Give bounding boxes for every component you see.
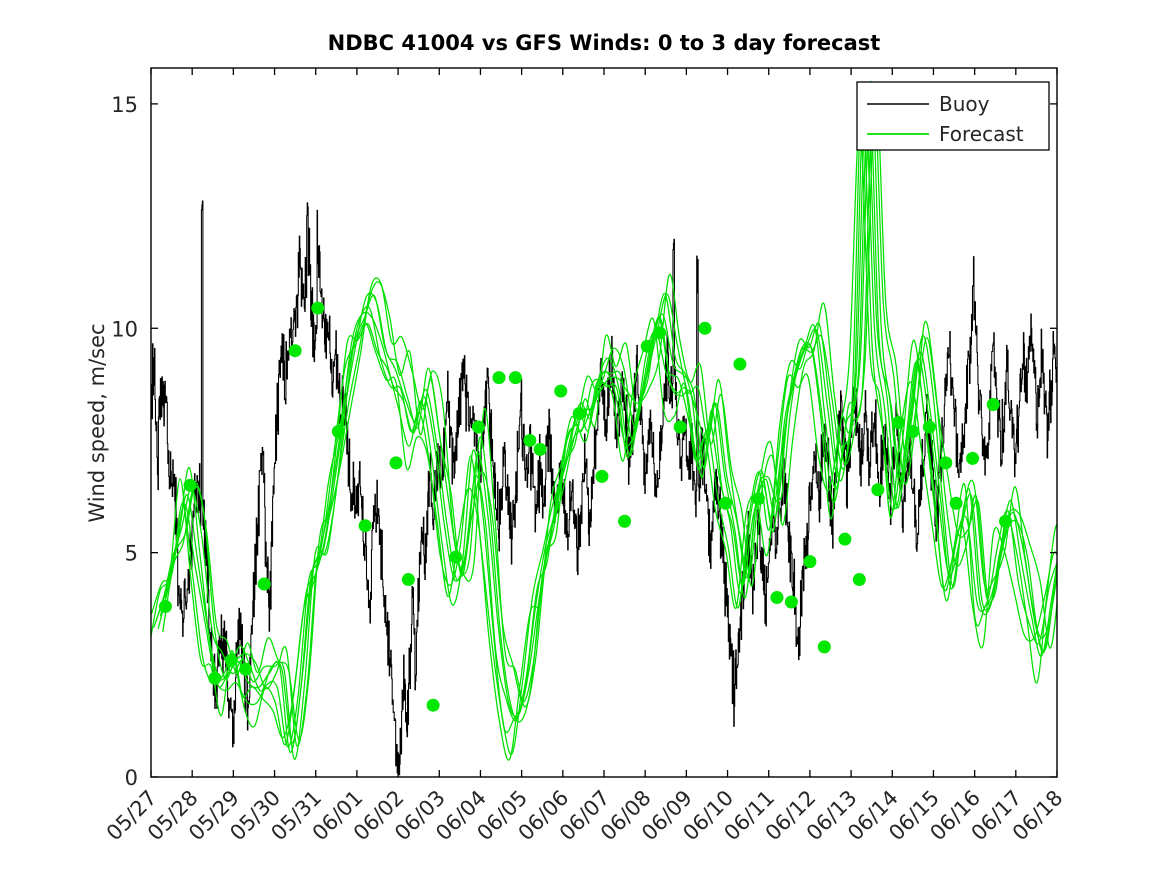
forecast-marker [427, 699, 440, 712]
forecast-marker [785, 595, 798, 608]
y-tick-label: 10 [111, 317, 138, 341]
forecast-marker [359, 519, 372, 532]
forecast-marker [752, 492, 765, 505]
forecast-marker [923, 420, 936, 433]
forecast-marker [159, 600, 172, 613]
forecast-marker [208, 672, 221, 685]
forecast-marker [184, 479, 197, 492]
wind-speed-chart: NDBC 41004 vs GFS Winds: 0 to 3 day fore… [0, 0, 1167, 875]
figure-container: NDBC 41004 vs GFS Winds: 0 to 3 day fore… [0, 0, 1167, 875]
y-tick-label: 5 [125, 542, 138, 566]
forecast-marker [871, 483, 884, 496]
forecast-marker [332, 425, 345, 438]
y-tick-label: 15 [111, 93, 138, 117]
forecast-marker [653, 326, 666, 339]
forecast-marker [966, 452, 979, 465]
forecast-marker [289, 344, 302, 357]
forecast-marker [534, 443, 547, 456]
forecast-marker [239, 663, 252, 676]
forecast-marker [698, 322, 711, 335]
forecast-marker [719, 497, 732, 510]
forecast-marker [838, 533, 851, 546]
forecast-marker [311, 302, 324, 315]
forecast-marker [402, 573, 415, 586]
y-axis-title: Wind speed, m/sec [85, 323, 109, 522]
forecast-marker [509, 371, 522, 384]
forecast-marker [258, 578, 271, 591]
y-tick-label: 0 [125, 766, 138, 790]
forecast-marker [595, 470, 608, 483]
forecast-marker [853, 573, 866, 586]
forecast-marker [492, 371, 505, 384]
forecast-marker [523, 434, 536, 447]
forecast-marker [449, 551, 462, 564]
forecast-marker [733, 358, 746, 371]
chart-legend[interactable]: BuoyForecast [857, 82, 1049, 150]
forecast-marker [987, 398, 1000, 411]
forecast-marker [641, 340, 654, 353]
forecast-marker [892, 416, 905, 429]
forecast-marker [906, 425, 919, 438]
chart-title: NDBC 41004 vs GFS Winds: 0 to 3 day fore… [328, 31, 881, 55]
forecast-marker [618, 515, 631, 528]
forecast-marker [999, 515, 1012, 528]
legend-label: Forecast [939, 122, 1024, 146]
legend-label: Buoy [939, 92, 990, 116]
forecast-marker [573, 407, 586, 420]
forecast-marker [225, 654, 238, 667]
forecast-marker [390, 456, 403, 469]
forecast-marker [472, 420, 485, 433]
forecast-marker [803, 555, 816, 568]
forecast-marker [818, 640, 831, 653]
forecast-marker [770, 591, 783, 604]
forecast-marker [939, 456, 952, 469]
forecast-marker [554, 385, 567, 398]
forecast-marker [950, 497, 963, 510]
forecast-marker [674, 420, 687, 433]
